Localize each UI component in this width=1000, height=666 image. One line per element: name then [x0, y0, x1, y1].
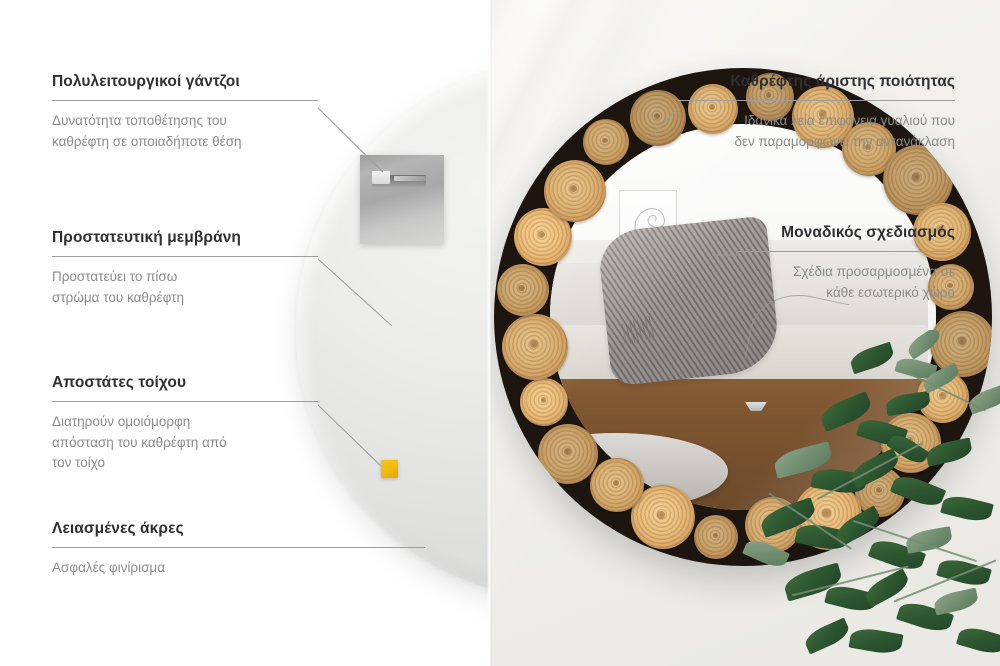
- foliage-decoration: [700, 330, 1000, 666]
- log-round: [520, 378, 568, 426]
- callout-design-title: Μοναδικός σχεδιασμός: [655, 223, 955, 242]
- callout-membrane: Προστατευτική μεμβράνη Προστατεύει το πί…: [52, 228, 318, 308]
- callout-quality: Καθρέφτης άριστης ποιότητας Ιδανικά λεία…: [655, 72, 955, 152]
- log-round: [583, 119, 629, 165]
- callout-hooks: Πολυλειτουργικοί γάντζοι Δυνατότητα τοπο…: [52, 72, 318, 152]
- callout-spacers-description: Διατηρούν ομοιόμορφη απόσταση του καθρέφ…: [52, 412, 232, 474]
- log-round: [538, 424, 598, 484]
- callout-membrane-description: Προστατεύει το πίσω στρώμα του καθρέφτη: [52, 267, 227, 308]
- log-round: [590, 458, 644, 512]
- hook-slot-icon: [372, 175, 426, 187]
- callout-design-rule: [737, 251, 955, 252]
- callout-quality-rule: [678, 100, 955, 101]
- leaf: [924, 437, 973, 466]
- leaf: [848, 342, 896, 375]
- callout-hooks-rule: [52, 100, 318, 101]
- leaf: [885, 391, 931, 416]
- callout-spacers-rule: [52, 401, 318, 402]
- callout-membrane-title: Προστατευτική μεμβράνη: [52, 228, 318, 247]
- log-round: [502, 314, 568, 380]
- callout-hooks-title: Πολυλειτουργικοί γάντζοι: [52, 72, 318, 91]
- hook-mounting-plate: [360, 155, 444, 244]
- leaf: [848, 626, 903, 657]
- leaf: [933, 588, 980, 616]
- callout-design: Μοναδικός σχεδιασμός Σχέδια προσαρμοσμέν…: [655, 223, 955, 303]
- log-round: [544, 160, 606, 222]
- callout-spacers-title: Αποστάτες τοίχου: [52, 373, 318, 392]
- leaf: [956, 624, 1000, 657]
- leaf: [802, 618, 852, 655]
- wall-spacer: [381, 460, 398, 478]
- callout-edges-description: Ασφαλές φινίρισμα: [52, 558, 425, 579]
- callout-design-description: Σχέδια προσαρμοσμένα σε κάθε εσωτερικό χ…: [765, 262, 955, 303]
- callout-edges-title: Λειασμένες άκρες: [52, 519, 425, 538]
- panel-split-edge: [487, 0, 492, 666]
- leaf: [905, 330, 944, 360]
- callout-edges: Λειασμένες άκρες Ασφαλές φινίρισμα: [52, 519, 425, 579]
- callout-membrane-rule: [52, 256, 318, 257]
- callout-quality-description: Ιδανικά λεία επιφάνεια γυαλιού που δεν π…: [727, 111, 955, 152]
- callout-quality-title: Καθρέφτης άριστης ποιότητας: [655, 72, 955, 91]
- log-round: [497, 264, 549, 316]
- leaf: [742, 536, 790, 571]
- callout-edges-rule: [52, 547, 425, 548]
- infographic-canvas: Πολυλειτουργικοί γάντζοι Δυνατότητα τοπο…: [0, 0, 1000, 666]
- leaf: [940, 492, 994, 524]
- callout-hooks-description: Δυνατότητα τοποθέτησης του καθρέφτη σε ο…: [52, 111, 262, 152]
- leaf: [890, 471, 946, 511]
- callout-spacers: Αποστάτες τοίχου Διατηρούν ομοιόμορφη απ…: [52, 373, 318, 474]
